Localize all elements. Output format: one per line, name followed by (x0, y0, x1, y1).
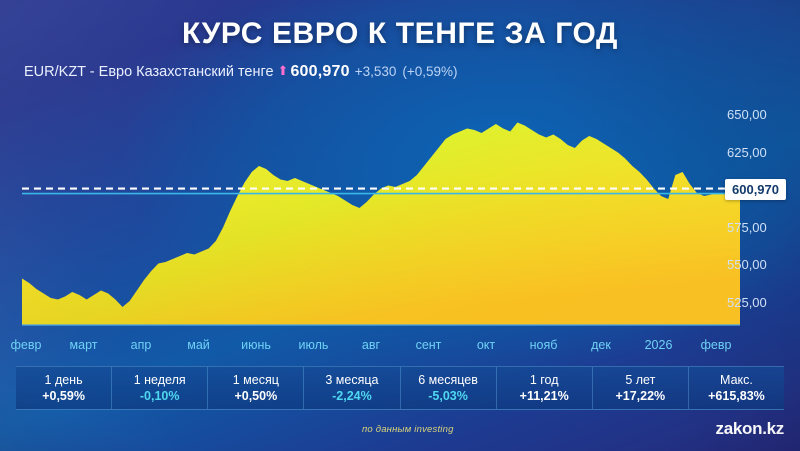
performance-period-label: 3 месяца (325, 373, 378, 387)
performance-cell[interactable]: 1 месяц+0,50% (208, 367, 304, 409)
performance-cell[interactable]: 5 лет+17,22% (593, 367, 689, 409)
x-axis-tick: март (70, 338, 98, 352)
y-axis-labels: 650,00625,00575,00550,00525,00 (727, 92, 800, 332)
performance-change-value: -5,03% (428, 389, 468, 403)
performance-period-label: 1 день (45, 373, 83, 387)
performance-period-label: 1 год (530, 373, 559, 387)
current-price: 600,970 (290, 63, 349, 80)
performance-cell[interactable]: 3 месяца-2,24% (304, 367, 400, 409)
performance-cell[interactable]: Макс.+615,83% (689, 367, 784, 409)
x-axis-tick: июль (299, 338, 329, 352)
x-axis-tick: апр (131, 338, 152, 352)
x-axis-labels: феврмартапрмайиюньиюльавгсентоктноябдек2… (0, 338, 800, 358)
y-axis-tick: 550,00 (727, 257, 767, 272)
performance-change-value: +0,50% (234, 389, 277, 403)
infographic-page: КУРС ЕВРО К ТЕНГЕ ЗА ГОД EUR/KZT - Евро … (0, 0, 800, 451)
chart-svg (0, 92, 800, 332)
instrument-summary: EUR/KZT - Евро Казахстанский тенге⬆600,9… (24, 62, 458, 82)
arrow-up-icon: ⬆ (278, 63, 289, 78)
price-change-percent: (+0,59%) (402, 64, 457, 79)
performance-period-label: Макс. (720, 373, 753, 387)
performance-period-label: 1 неделя (134, 373, 186, 387)
instrument-name: EUR/KZT - Евро Казахстанский тенге (24, 64, 274, 80)
performance-change-value: -0,10% (140, 389, 180, 403)
page-title: КУРС ЕВРО К ТЕНГЕ ЗА ГОД (0, 17, 800, 51)
x-axis-tick: май (187, 338, 210, 352)
current-price-badge: 600,970 (725, 179, 786, 200)
performance-cell[interactable]: 1 год+11,21% (497, 367, 593, 409)
price-change-absolute: +3,530 (355, 64, 397, 79)
performance-change-value: -2,24% (332, 389, 372, 403)
performance-change-value: +11,21% (520, 389, 569, 403)
x-axis-tick: окт (477, 338, 495, 352)
x-axis-tick: авг (362, 338, 380, 352)
performance-change-value: +615,83% (708, 389, 765, 403)
performance-change-value: +0,59% (42, 389, 85, 403)
performance-period-label: 5 лет (625, 373, 655, 387)
performance-period-label: 1 месяц (233, 373, 279, 387)
site-logo: zakon.kz (716, 419, 784, 439)
performance-table: 1 день+0,59%1 неделя-0,10%1 месяц+0,50%3… (16, 366, 784, 410)
performance-change-value: +17,22% (615, 389, 665, 403)
x-axis-tick: нояб (530, 338, 558, 352)
y-axis-tick: 575,00 (727, 220, 767, 235)
x-axis-tick: сент (416, 338, 442, 352)
x-axis-tick: 2026 (645, 338, 673, 352)
performance-cell[interactable]: 6 месяцев-5,03% (401, 367, 497, 409)
price-chart (0, 92, 800, 332)
y-axis-tick: 525,00 (727, 295, 767, 310)
performance-cell[interactable]: 1 неделя-0,10% (112, 367, 208, 409)
performance-period-label: 6 месяцев (418, 373, 478, 387)
x-axis-tick: февр (11, 338, 42, 352)
y-axis-tick: 625,00 (727, 145, 767, 160)
x-axis-tick: февр (701, 338, 732, 352)
x-axis-tick: дек (591, 338, 611, 352)
data-source-note: по данным investing (362, 424, 454, 435)
chart-series-area (22, 123, 740, 326)
y-axis-tick: 650,00 (727, 107, 767, 122)
performance-cell[interactable]: 1 день+0,59% (16, 367, 112, 409)
x-axis-tick: июнь (241, 338, 271, 352)
